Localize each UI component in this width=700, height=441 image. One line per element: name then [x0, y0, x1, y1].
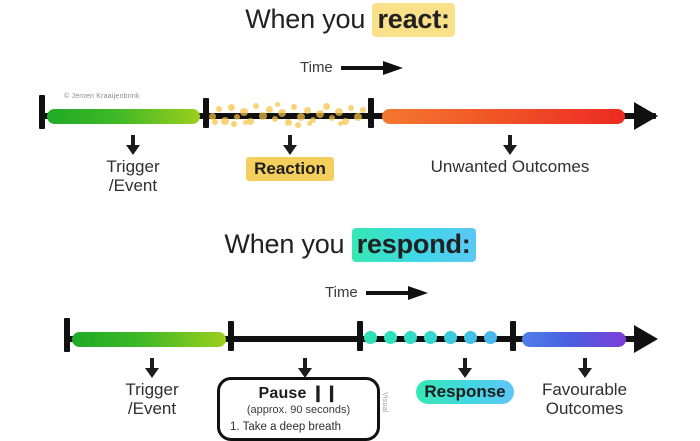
arrow-right-icon: [366, 285, 428, 301]
arrow-right-icon: [341, 60, 403, 76]
pause-box[interactable]: Pause ❙❙ (approx. 90 seconds) 1. Take a …: [217, 377, 380, 441]
arrow-down-icon: [298, 358, 312, 378]
pause-subtitle: (approx. 90 seconds): [228, 404, 369, 416]
arrow-down-icon: [503, 135, 517, 155]
tick-react-0: [39, 95, 45, 129]
caption-response: Response: [400, 358, 530, 404]
time-label-respond: Time: [325, 284, 428, 301]
segment-trigger-react: [47, 109, 200, 124]
arrow-down-icon: [578, 358, 592, 378]
heading-respond: When you respond:: [0, 229, 700, 260]
caption-reaction: Reaction: [215, 135, 365, 181]
caption-trigger-react-label: Trigger /Event: [63, 157, 203, 195]
pause-step-1: 1. Take a deep breath: [228, 421, 369, 433]
tick-respond-1: [228, 321, 234, 351]
panel-react: When you react: Time: [0, 0, 700, 210]
caption-favourable-outcomes-label: Favourable Outcomes: [512, 380, 657, 418]
heading-react-highlight: react:: [372, 3, 454, 37]
segment-unwanted-react: [382, 109, 625, 124]
caption-pause-arrow: [240, 358, 370, 378]
heading-respond-highlight: respond:: [352, 228, 476, 262]
dot-cluster-response: [362, 329, 512, 347]
pause-title: Pause ❙❙: [228, 383, 369, 403]
dot-cluster-reaction: [207, 101, 367, 127]
heading-react: When you react:: [0, 4, 700, 35]
credit-text: © Jeroen Kraaijenbrink: [64, 93, 140, 100]
time-text-react: Time: [300, 59, 333, 76]
pause-icon: ❙❙: [311, 385, 338, 402]
time-label-react: Time: [300, 59, 403, 76]
heading-respond-prefix: When you: [224, 229, 351, 259]
caption-trigger-react: Trigger /Event: [63, 135, 203, 195]
caption-reaction-label: Reaction: [246, 157, 334, 181]
arrow-down-icon: [283, 135, 297, 155]
segment-trigger-respond: [72, 332, 226, 347]
heading-react-prefix: When you: [245, 4, 372, 34]
arrow-down-icon: [458, 358, 472, 378]
caption-trigger-respond-label: Trigger /Event: [82, 380, 222, 418]
timeline-react-arrowhead: [634, 102, 658, 130]
caption-favourable-outcomes: Favourable Outcomes: [512, 358, 657, 418]
tick-react-2: [368, 98, 374, 128]
caption-unwanted-outcomes: Unwanted Outcomes: [400, 135, 620, 176]
arrow-down-icon: [126, 135, 140, 155]
watermark-text: Visual: [381, 392, 388, 413]
caption-unwanted-outcomes-label: Unwanted Outcomes: [400, 157, 620, 176]
time-text-respond: Time: [325, 284, 358, 301]
segment-favourable-respond: [522, 332, 626, 347]
panel-respond: When you respond: Time: [0, 215, 700, 441]
tick-respond-0: [64, 318, 70, 352]
pause-title-text: Pause: [258, 385, 306, 402]
caption-response-label: Response: [416, 380, 513, 404]
infographic-react-vs-respond: { "credit": "© Jeroen Kraaijenbrink", "w…: [0, 0, 700, 441]
timeline-respond-arrowhead: [634, 325, 658, 353]
caption-trigger-respond: Trigger /Event: [82, 358, 222, 418]
arrow-down-icon: [145, 358, 159, 378]
